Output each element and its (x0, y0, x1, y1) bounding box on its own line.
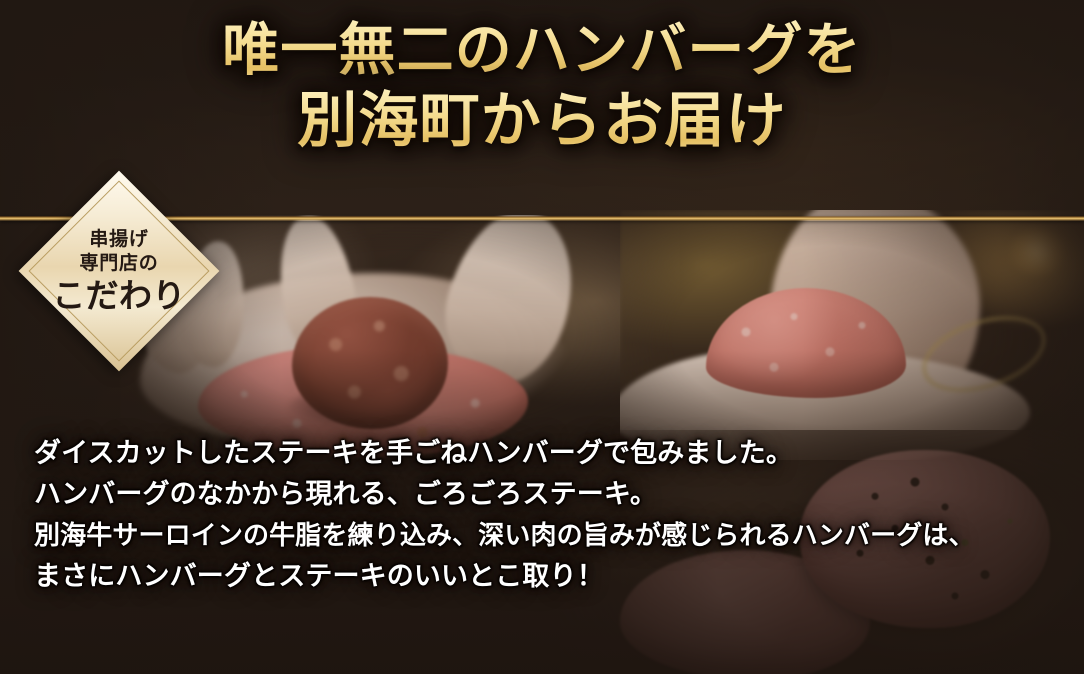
product-promo-banner: 唯一無二のハンバーグを 別海町からお届け 串揚げ 専門店の こだわり ダイスカッ… (0, 0, 1084, 674)
kodawari-diamond-badge: 串揚げ 専門店の こだわり (20, 172, 218, 370)
badge-line-1: 串揚げ (89, 228, 148, 252)
headline-line-2: 別海町からお届け (0, 88, 1084, 155)
body-line-4: まさにハンバーグとステーキのいいとこ取り！ (34, 563, 1044, 591)
badge-text-group: 串揚げ 専門店の こだわり (20, 172, 218, 370)
body-line-2: ハンバーグのなかから現れる、ごろごろステーキ。 (34, 481, 1044, 509)
body-copy: ダイスカットしたステーキを手ごねハンバーグで包みました。 ハンバーグのなかから現… (34, 440, 1044, 591)
headline-line-1: 唯一無二のハンバーグを (0, 18, 1084, 82)
headline: 唯一無二のハンバーグを 別海町からお届け (0, 18, 1084, 155)
body-line-3: 別海牛サーロインの牛脂を練り込み、深い肉の旨みが感じられるハンバーグは、 (34, 523, 1044, 550)
badge-line-2: 専門店の (79, 252, 158, 276)
badge-line-3: こだわり (52, 279, 185, 314)
body-line-1: ダイスカットしたステーキを手ごねハンバーグで包みました。 (34, 440, 1044, 468)
